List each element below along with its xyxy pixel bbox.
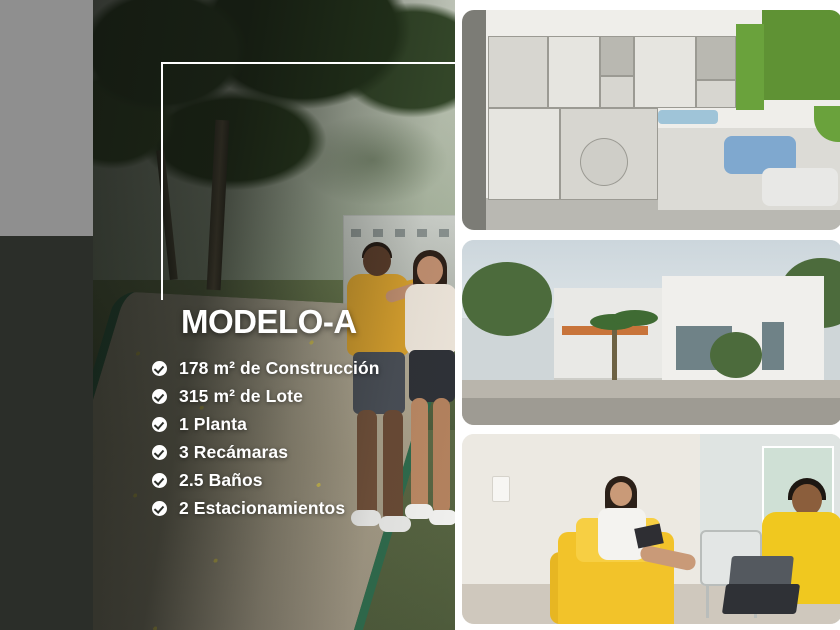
- list-item: 2.5 Baños: [152, 467, 452, 493]
- corner-bracket-decoration: [161, 62, 463, 300]
- facade-street: [462, 398, 840, 425]
- plan-pool: [658, 110, 718, 124]
- feature-label: 1 Planta: [179, 414, 247, 435]
- plan-room-bath-1: [600, 36, 634, 76]
- facade-palm-leaf-right: [612, 310, 658, 326]
- plan-side-walk: [462, 10, 486, 230]
- light-switch-icon: [492, 476, 510, 502]
- check-circle-icon: [152, 445, 167, 460]
- list-item: 315 m² de Lote: [152, 383, 452, 409]
- left-dark-bar: [0, 236, 93, 630]
- facade-window-side: [762, 322, 784, 370]
- feature-label: 178 m² de Construcción: [179, 358, 380, 379]
- feature-label: 2.5 Baños: [179, 470, 263, 491]
- list-item: 178 m² de Construcción: [152, 355, 452, 381]
- check-circle-icon: [152, 473, 167, 488]
- plan-room-bedroom-3: [634, 36, 696, 108]
- plan-room-hall: [696, 80, 736, 108]
- plan-room-bath-2: [696, 36, 736, 80]
- check-circle-icon: [152, 389, 167, 404]
- plan-garden-lawn: [762, 10, 840, 100]
- check-circle-icon: [152, 417, 167, 432]
- feature-label: 3 Recámaras: [179, 442, 288, 463]
- plan-room-bedroom-2: [548, 36, 600, 108]
- plan-side-garden: [736, 24, 764, 110]
- plan-room-closet: [600, 76, 634, 108]
- feature-list: 178 m² de Construcción 315 m² de Lote 1 …: [152, 355, 452, 523]
- interior-image-card: [462, 434, 840, 624]
- poster-canvas: MODELO-A 178 m² de Construcción 315 m² d…: [0, 0, 840, 630]
- plan-room-bedroom-1: [488, 36, 548, 108]
- facade-shrub: [710, 332, 762, 378]
- list-item: 2 Estacionamientos: [152, 495, 452, 521]
- facade-palm-trunk: [612, 326, 617, 380]
- interior-chair-leg-left: [706, 584, 709, 618]
- page-title: MODELO-A: [181, 303, 357, 341]
- facade-image-card: [462, 240, 840, 425]
- interior-laptop-base: [722, 584, 800, 614]
- plan-room-living: [488, 108, 560, 200]
- list-item: 1 Planta: [152, 411, 452, 437]
- check-circle-icon: [152, 361, 167, 376]
- check-circle-icon: [152, 501, 167, 516]
- list-item: 3 Recámaras: [152, 439, 452, 465]
- plan-round-table: [580, 138, 628, 186]
- interior-woman-head: [610, 482, 632, 506]
- plan-car-white: [762, 168, 838, 206]
- floor-plan-image-card: [462, 10, 840, 230]
- facade-tree-left: [462, 262, 552, 336]
- feature-label: 2 Estacionamientos: [179, 498, 345, 519]
- feature-label: 315 m² de Lote: [179, 386, 303, 407]
